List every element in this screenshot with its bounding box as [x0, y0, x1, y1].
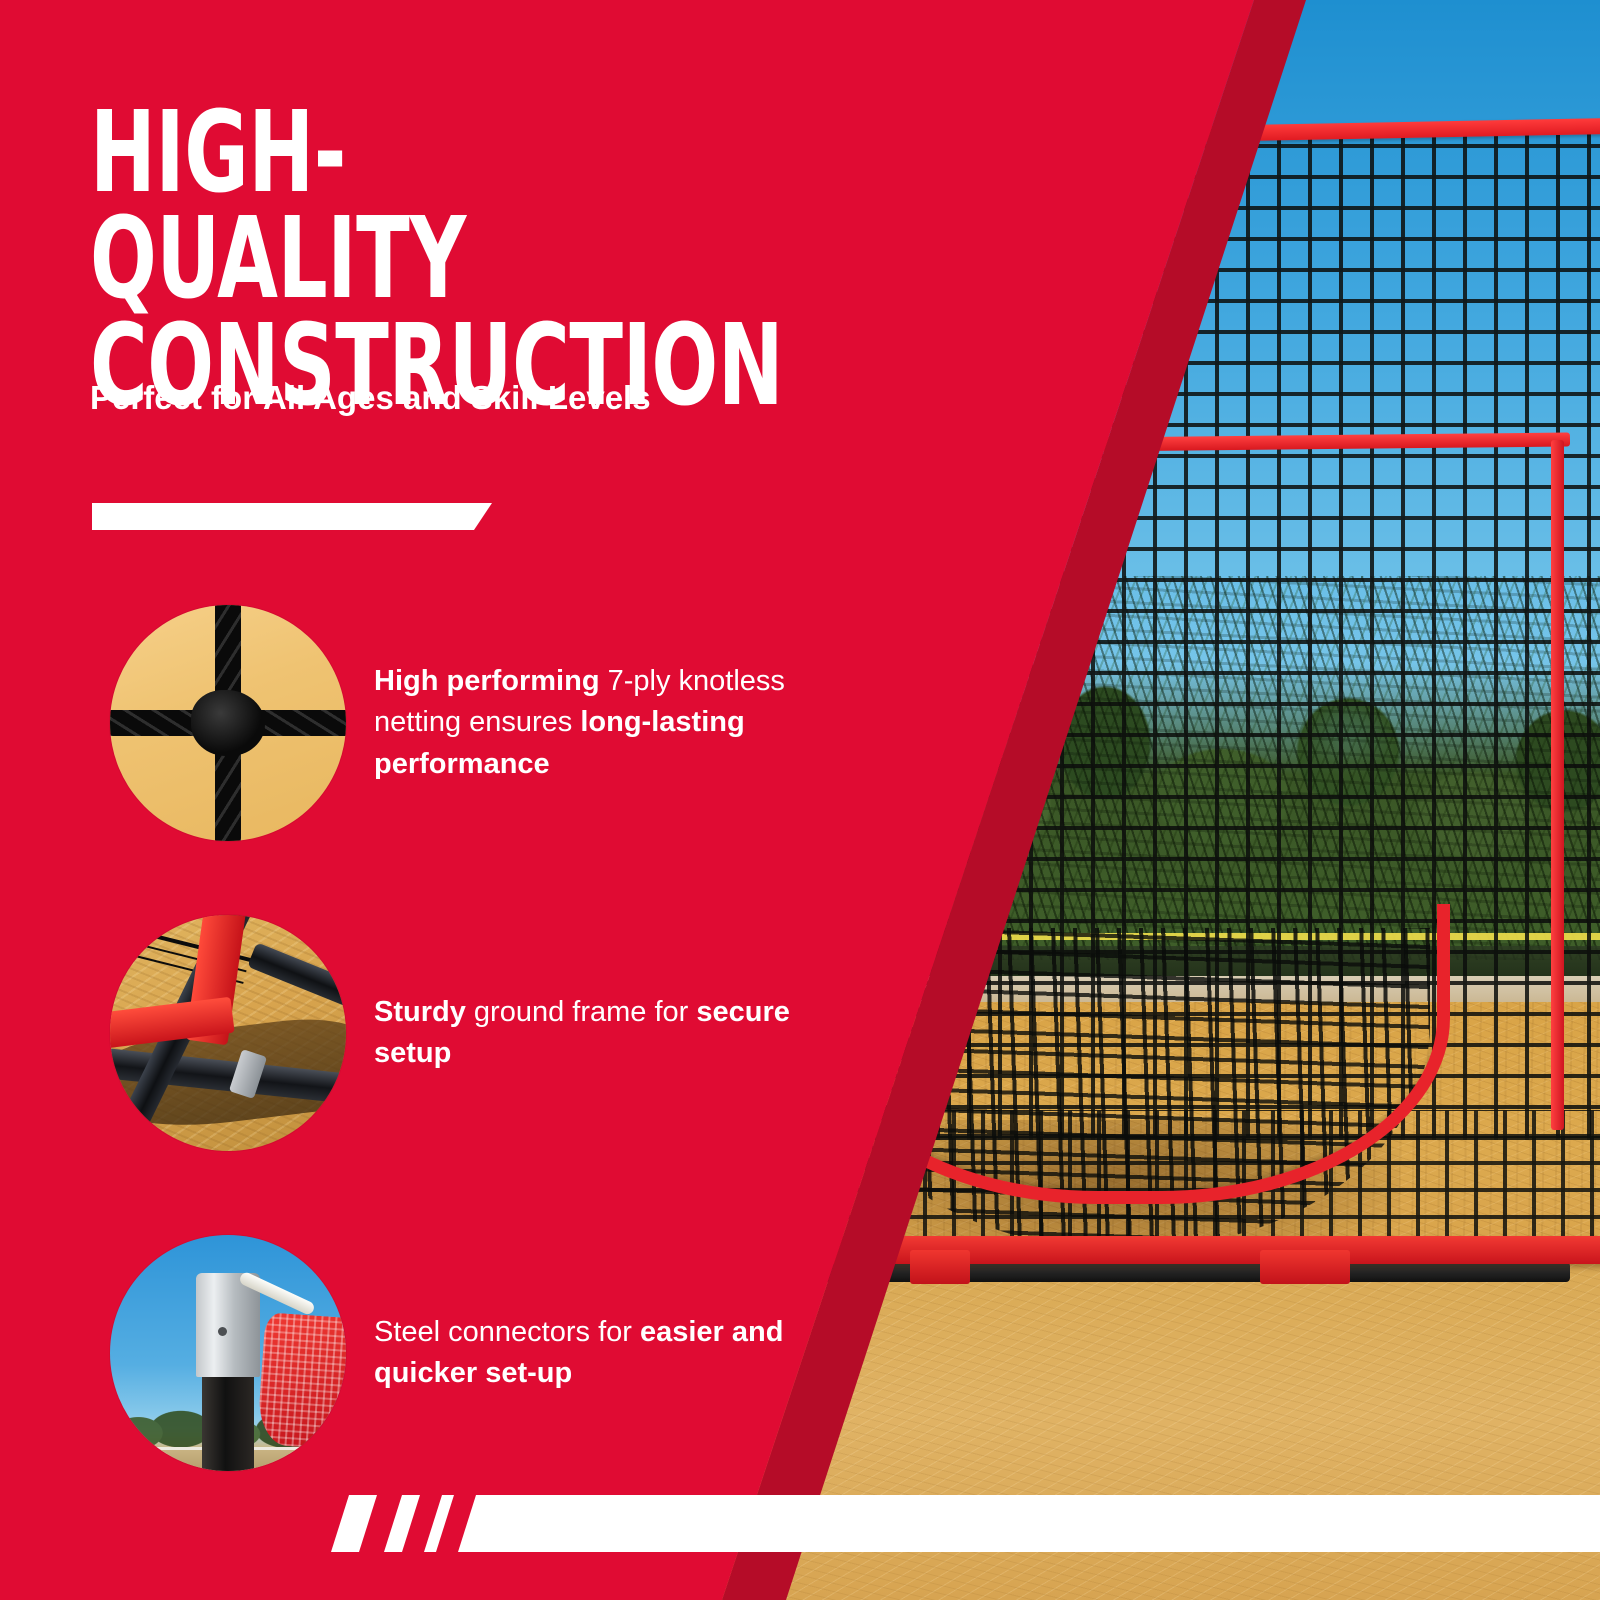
base-clip-left: [910, 1250, 970, 1284]
ground-frame-closeup-icon: [110, 915, 346, 1151]
feature-text: Sturdy ground frame for secure setup: [374, 992, 844, 1074]
feature-text: High performing 7-ply knotless netting e…: [374, 661, 844, 785]
page-title: HIGH-QUALITY CONSTRUCTION: [90, 100, 652, 419]
steel-connector-closeup-icon: [110, 1235, 346, 1471]
rope-knot: [191, 690, 265, 756]
content-column: HIGH-QUALITY CONSTRUCTION Perfect for Al…: [0, 0, 900, 1600]
feature-text-bold: Sturdy: [374, 996, 474, 1028]
feature-row: High performing 7-ply knotless netting e…: [0, 605, 860, 841]
red-mesh-fabric: [257, 1312, 346, 1450]
feature-text-regular: Steel connectors for: [374, 1316, 640, 1348]
feature-text: Steel connectors for easier and quicker …: [374, 1312, 844, 1394]
feature-row: Steel connectors for easier and quicker …: [0, 1235, 860, 1471]
feature-row: Sturdy ground frame for secure setup: [0, 915, 860, 1151]
page-subtitle: Perfect for All Ages and Skill Levels: [90, 378, 670, 418]
frame-tube-right: [247, 942, 346, 1017]
feature-text-regular: ground frame for: [474, 996, 696, 1028]
feature-text-bold: High performing: [374, 665, 608, 697]
infographic-canvas: HIGH-QUALITY CONSTRUCTION Perfect for Al…: [0, 0, 1600, 1600]
knotless-netting-closeup-icon: [110, 605, 346, 841]
net-right-red-trim: [1551, 440, 1564, 1130]
base-clip-right: [1260, 1250, 1350, 1284]
title-divider-bar: [92, 503, 492, 530]
